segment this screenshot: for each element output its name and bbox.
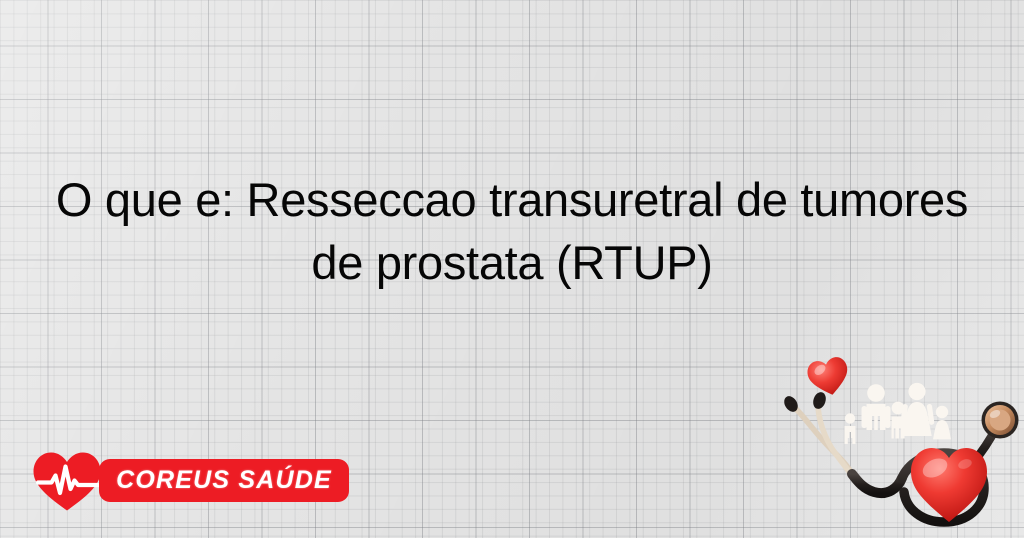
page-title: O que e: Resseccao transuretral de tumor… — [34, 168, 990, 294]
brand-badge: COREUS SAÚDE — [99, 459, 349, 502]
family-icon — [845, 383, 952, 444]
brand-name-text: COREUS SAÚDE — [116, 466, 332, 495]
medical-illustration-collage — [778, 352, 1024, 538]
stethoscope-chestpiece-icon — [982, 402, 1019, 439]
banner-canvas: O que e: Resseccao transuretral de tumor… — [0, 0, 1024, 538]
brand-logo: COREUS SAÚDE — [31, 450, 351, 512]
heart-ecg-icon — [31, 450, 103, 512]
small-heart-icon — [805, 355, 852, 399]
